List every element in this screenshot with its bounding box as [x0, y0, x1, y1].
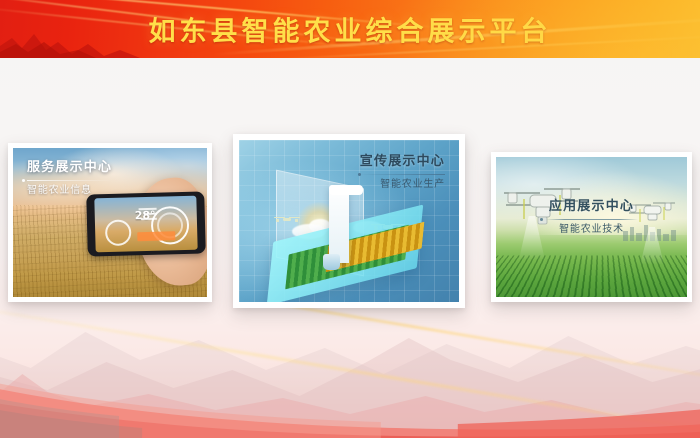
card-promotion-title: 宣传展示中心: [360, 154, 445, 170]
card-service-title: 服务展示中心: [27, 160, 112, 176]
card-application-image: 应用展示中心 智能农业技术: [496, 157, 687, 297]
card-promotion-subtitle: 智能农业生产: [360, 178, 445, 191]
card-service-caption: 服务展示中心 智能农业信息: [27, 160, 112, 197]
smartphone-device: 28°: [86, 191, 206, 256]
sensor-pole: [329, 185, 349, 263]
caption-divider: [360, 174, 445, 175]
water-bucket-icon: [323, 254, 340, 270]
card-promotion-caption: 宣传展示中心 智能农业生产: [360, 154, 445, 191]
card-promotion-image: 宣传展示中心 智能农业生产: [239, 140, 459, 302]
hud-chip-icon: [137, 231, 175, 241]
card-service-subtitle: 智能农业信息: [27, 184, 112, 197]
card-promotion-display-center[interactable]: 宣传展示中心 智能农业生产: [233, 134, 465, 308]
hud-bar-icon: [138, 207, 156, 209]
card-application-caption: 应用展示中心 智能农业技术: [496, 199, 687, 236]
phone-screen: 28°: [94, 195, 197, 252]
hud-bar-icon: [141, 217, 157, 219]
drone-icon: [274, 215, 300, 223]
app-root: 如东县智能农业综合展示平台 28°: [0, 0, 700, 438]
header-banner: 如东县智能农业综合展示平台: [0, 0, 700, 58]
card-application-subtitle: 智能农业技术: [496, 223, 687, 236]
card-application-title: 应用展示中心: [496, 199, 687, 215]
card-service-image: 28° 服务展示中心 智能农业信息: [13, 148, 207, 297]
hud-bar-icon: [143, 212, 156, 214]
caption-divider: [546, 219, 638, 220]
crop-rows-perspective: [496, 255, 687, 297]
page-title: 如东县智能农业综合展示平台: [0, 10, 700, 49]
hud-ring-left-icon: [105, 219, 132, 246]
caption-divider: [27, 180, 112, 181]
card-application-display-center[interactable]: 应用展示中心 智能农业技术: [491, 152, 692, 302]
card-service-display-center[interactable]: 28° 服务展示中心 智能农业信息: [8, 143, 212, 302]
